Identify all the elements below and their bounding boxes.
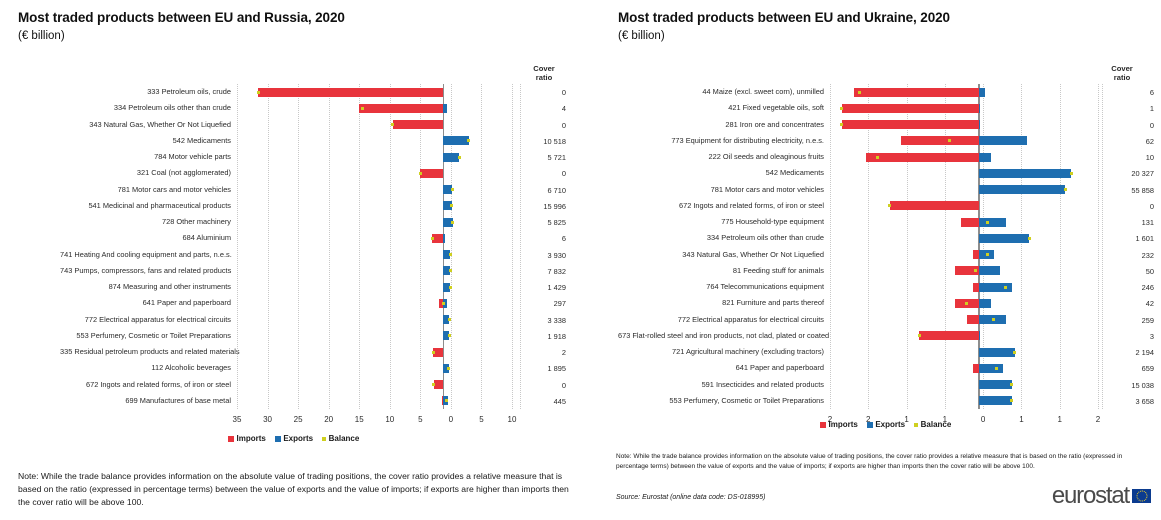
balance-marker bbox=[840, 123, 843, 126]
bar-exports bbox=[443, 104, 446, 113]
bar-exports bbox=[979, 396, 1012, 405]
cover-ratio-value: 6 bbox=[506, 234, 566, 243]
x-axis-tick: 15 bbox=[344, 415, 374, 424]
legend-label-imports: Imports bbox=[829, 420, 858, 429]
x-axis-tick: 5 bbox=[466, 415, 496, 424]
balance-marker bbox=[449, 253, 452, 256]
cover-ratio-value: 2 bbox=[506, 348, 566, 357]
legend-item-imports: Imports bbox=[820, 420, 858, 429]
category-label: 334 Petroleum oils other than crude bbox=[618, 233, 824, 242]
category-label: 775 Household-type equipment bbox=[618, 217, 824, 226]
category-label: 641 Paper and paperboard bbox=[60, 298, 231, 307]
page-title-ukraine: Most traded products between EU and Ukra… bbox=[618, 10, 950, 25]
cover-ratio-divider bbox=[520, 84, 521, 409]
category-label: 333 Petroleum oils, crude bbox=[60, 87, 231, 96]
gridline bbox=[298, 84, 300, 409]
legend-item-exports: Exports bbox=[275, 434, 313, 443]
balance-marker bbox=[888, 204, 891, 207]
cover-ratio-value: 3 930 bbox=[506, 251, 566, 260]
cover-ratio-value: 2 194 bbox=[1094, 348, 1154, 357]
balance-marker bbox=[986, 253, 989, 256]
page-title-russia: Most traded products between EU and Russ… bbox=[18, 10, 345, 25]
balance-marker bbox=[442, 302, 445, 305]
legend-swatch-exports bbox=[867, 422, 873, 428]
gridline bbox=[359, 84, 361, 409]
cover-ratio-value: 3 338 bbox=[506, 316, 566, 325]
legend-label-exports: Exports bbox=[283, 434, 313, 443]
legend-swatch-balance bbox=[914, 423, 918, 427]
cover-ratio-value: 10 bbox=[1094, 153, 1154, 162]
category-label: 421 Fixed vegetable oils, soft bbox=[618, 103, 824, 112]
x-axis-tick: 10 bbox=[497, 415, 527, 424]
x-axis-tick: 0 bbox=[968, 415, 998, 424]
x-axis-tick: 20 bbox=[314, 415, 344, 424]
bar-exports bbox=[979, 169, 1071, 178]
category-label: 541 Medicinal and pharmaceutical product… bbox=[60, 201, 231, 210]
category-label: 591 Insecticides and related products bbox=[618, 380, 824, 389]
cover-ratio-value: 55 858 bbox=[1094, 186, 1154, 195]
cover-ratio-value: 50 bbox=[1094, 267, 1154, 276]
legend-swatch-exports bbox=[275, 436, 281, 442]
gridline bbox=[1098, 84, 1100, 409]
cover-ratio-header-ukraine: Cover ratio bbox=[1100, 64, 1144, 82]
category-label: 772 Electrical apparatus for electrical … bbox=[618, 315, 824, 324]
cover-ratio-value: 10 518 bbox=[506, 137, 566, 146]
cover-ratio-value: 259 bbox=[1094, 316, 1154, 325]
x-axis-tick: 0 bbox=[436, 415, 466, 424]
balance-marker bbox=[432, 351, 435, 354]
cover-ratio-value: 131 bbox=[1094, 218, 1154, 227]
x-axis-tick: 25 bbox=[283, 415, 313, 424]
bar-imports bbox=[866, 153, 979, 162]
balance-marker bbox=[948, 139, 951, 142]
gridline bbox=[1021, 84, 1023, 409]
category-label: 81 Feeding stuff for animals bbox=[618, 266, 824, 275]
balance-marker bbox=[467, 139, 470, 142]
cover-ratio-divider bbox=[1102, 84, 1103, 409]
balance-marker bbox=[257, 91, 260, 94]
balance-marker bbox=[1010, 383, 1013, 386]
cover-ratio-value: 7 832 bbox=[506, 267, 566, 276]
balance-marker bbox=[1004, 286, 1007, 289]
legend-label-exports: Exports bbox=[875, 420, 905, 429]
x-axis-tick: 1 bbox=[1045, 415, 1075, 424]
balance-marker bbox=[391, 123, 394, 126]
balance-marker bbox=[431, 237, 434, 240]
balance-marker bbox=[449, 269, 452, 272]
balance-marker bbox=[458, 156, 461, 159]
category-label: 784 Motor vehicle parts bbox=[60, 152, 231, 161]
balance-marker bbox=[1064, 188, 1067, 191]
eurostat-logo: eurostat bbox=[1052, 482, 1151, 510]
balance-marker bbox=[986, 221, 989, 224]
cover-ratio-value: 62 bbox=[1094, 137, 1154, 146]
cover-ratio-value: 0 bbox=[1094, 202, 1154, 211]
category-label: 335 Residual petroleum products and rela… bbox=[60, 347, 231, 356]
gridline bbox=[481, 84, 483, 409]
legend-item-exports: Exports bbox=[867, 420, 905, 429]
cover-ratio-header-russia: Cover ratio bbox=[524, 64, 564, 82]
category-label: 112 Alcoholic beverages bbox=[60, 363, 231, 372]
plot-area bbox=[830, 84, 1098, 409]
bar-imports bbox=[420, 169, 443, 178]
category-label: 673 Flat-rolled steel and iron products,… bbox=[618, 331, 824, 340]
category-label: 553 Perfumery, Cosmetic or Toilet Prepar… bbox=[60, 331, 231, 340]
category-label: 781 Motor cars and motor vehicles bbox=[60, 185, 231, 194]
plot-area bbox=[237, 84, 512, 409]
category-label: 743 Pumps, compressors, fans and related… bbox=[60, 266, 231, 275]
category-label: 684 Aluminium bbox=[60, 233, 231, 242]
legend-swatch-balance bbox=[322, 437, 326, 441]
legend-swatch-imports bbox=[228, 436, 234, 442]
category-label: 44 Maize (excl. sweet corn), unmilled bbox=[618, 87, 824, 96]
balance-marker bbox=[1010, 399, 1013, 402]
bar-exports bbox=[979, 153, 991, 162]
gridline bbox=[830, 84, 832, 409]
x-axis-tick: 35 bbox=[222, 415, 252, 424]
eurostat-chart-page: Most traded products between EU and Russ… bbox=[0, 0, 1161, 520]
cover-ratio-value: 4 bbox=[506, 104, 566, 113]
bar-exports bbox=[979, 218, 1006, 227]
cover-ratio-value: 15 996 bbox=[506, 202, 566, 211]
gridline bbox=[390, 84, 392, 409]
category-label: 542 Medicaments bbox=[60, 136, 231, 145]
bar-imports bbox=[842, 104, 979, 113]
bar-exports bbox=[979, 299, 991, 308]
cover-ratio-value: 0 bbox=[506, 88, 566, 97]
cover-ratio-value: 232 bbox=[1094, 251, 1154, 260]
category-label: 741 Heating And cooling equipment and pa… bbox=[60, 250, 231, 259]
bar-exports bbox=[979, 348, 1015, 357]
cover-ratio-value: 246 bbox=[1094, 283, 1154, 292]
legend-label-balance: Balance bbox=[329, 434, 360, 443]
legend-swatch-imports bbox=[820, 422, 826, 428]
category-label: 764 Telecommunications equipment bbox=[618, 282, 824, 291]
balance-marker bbox=[918, 334, 921, 337]
eurostat-wordmark: eurostat bbox=[1052, 482, 1129, 510]
bar-exports bbox=[443, 234, 445, 243]
balance-marker bbox=[451, 221, 454, 224]
balance-marker bbox=[992, 318, 995, 321]
x-axis-tick: 2 bbox=[1083, 415, 1113, 424]
category-label: 542 Medicaments bbox=[618, 168, 824, 177]
category-label: 672 Ingots and related forms, of iron or… bbox=[60, 380, 231, 389]
bar-imports bbox=[961, 218, 979, 227]
cover-ratio-value: 15 038 bbox=[1094, 381, 1154, 390]
zero-axis-line bbox=[443, 84, 444, 409]
bar-imports bbox=[359, 104, 443, 113]
legend-russia: Imports Exports Balance bbox=[228, 434, 359, 443]
cover-ratio-value: 5 721 bbox=[506, 153, 566, 162]
balance-marker bbox=[419, 172, 422, 175]
balance-marker bbox=[974, 269, 977, 272]
balance-marker bbox=[995, 367, 998, 370]
balance-marker bbox=[449, 286, 452, 289]
gridline bbox=[451, 84, 453, 409]
legend-item-imports: Imports bbox=[228, 434, 266, 443]
chart-panel-ukraine: Most traded products between EU and Ukra… bbox=[608, 0, 1161, 520]
bar-imports bbox=[258, 88, 443, 97]
bar-imports bbox=[919, 331, 979, 340]
legend-item-balance: Balance bbox=[914, 420, 951, 429]
zero-axis-line bbox=[978, 84, 979, 409]
balance-marker bbox=[432, 383, 435, 386]
cover-ratio-value: 0 bbox=[1094, 121, 1154, 130]
cover-ratio-value: 659 bbox=[1094, 364, 1154, 373]
category-label: 334 Petroleum oils other than crude bbox=[60, 103, 231, 112]
x-axis-tick: 30 bbox=[253, 415, 283, 424]
category-label: 222 Oil seeds and oleaginous fruits bbox=[618, 152, 824, 161]
cover-ratio-value: 445 bbox=[506, 397, 566, 406]
cover-ratio-value: 1 429 bbox=[506, 283, 566, 292]
category-label: 773 Equipment for distributing electrici… bbox=[618, 136, 824, 145]
cover-ratio-value: 0 bbox=[506, 169, 566, 178]
x-axis-tick: 5 bbox=[405, 415, 435, 424]
cover-ratio-value: 297 bbox=[506, 299, 566, 308]
bar-imports bbox=[393, 120, 444, 129]
bar-exports bbox=[979, 331, 981, 340]
gridline bbox=[907, 84, 909, 409]
balance-marker bbox=[451, 188, 454, 191]
x-axis-tick: 10 bbox=[375, 415, 405, 424]
bar-imports bbox=[890, 201, 979, 210]
category-label: 343 Natural Gas, Whether Or Not Liquefie… bbox=[60, 120, 231, 129]
cover-ratio-value: 1 601 bbox=[1094, 234, 1154, 243]
gridline bbox=[1060, 84, 1062, 409]
balance-marker bbox=[361, 107, 364, 110]
balance-marker bbox=[447, 367, 450, 370]
bar-imports bbox=[967, 315, 979, 324]
category-label: 772 Electrical apparatus for electrical … bbox=[60, 315, 231, 324]
note-russia: Note: While the trade balance provides i… bbox=[18, 470, 570, 509]
cover-ratio-value: 3 658 bbox=[1094, 397, 1154, 406]
cover-ratio-value: 1 895 bbox=[506, 364, 566, 373]
cover-ratio-value: 1 918 bbox=[506, 332, 566, 341]
gridline bbox=[983, 84, 985, 409]
bar-exports bbox=[979, 185, 1065, 194]
cover-ratio-value: 6 bbox=[1094, 88, 1154, 97]
legend-ukraine: Imports Exports Balance bbox=[820, 420, 951, 429]
note-ukraine: Note: While the trade balance provides i… bbox=[616, 452, 1136, 471]
balance-marker bbox=[448, 334, 451, 337]
bar-imports bbox=[842, 120, 979, 129]
cover-ratio-value: 0 bbox=[506, 121, 566, 130]
balance-marker bbox=[965, 302, 968, 305]
subtitle-ukraine: (€ billion) bbox=[618, 30, 665, 42]
category-label: 699 Manufactures of base metal bbox=[60, 396, 231, 405]
bar-imports bbox=[854, 88, 979, 97]
cover-ratio-value: 5 825 bbox=[506, 218, 566, 227]
x-axis-tick: 1 bbox=[1006, 415, 1036, 424]
category-label: 553 Perfumery, Cosmetic or Toilet Prepar… bbox=[618, 396, 824, 405]
balance-marker bbox=[445, 399, 448, 402]
cover-ratio-value: 42 bbox=[1094, 299, 1154, 308]
bar-exports bbox=[979, 104, 981, 113]
bar-exports bbox=[979, 364, 1003, 373]
bar-exports bbox=[443, 136, 468, 145]
legend-label-balance: Balance bbox=[921, 420, 952, 429]
bar-imports bbox=[901, 136, 978, 145]
cover-ratio-value: 20 327 bbox=[1094, 169, 1154, 178]
category-label: 781 Motor cars and motor vehicles bbox=[618, 185, 824, 194]
source-ukraine: Source: Eurostat (online data code: DS-0… bbox=[616, 494, 765, 501]
cover-ratio-value: 3 bbox=[1094, 332, 1154, 341]
balance-marker bbox=[876, 156, 879, 159]
gridline bbox=[237, 84, 239, 409]
category-label: 281 Iron ore and concentrates bbox=[618, 120, 824, 129]
gridline bbox=[868, 84, 870, 409]
category-label: 874 Measuring and other instruments bbox=[60, 282, 231, 291]
balance-marker bbox=[858, 91, 861, 94]
chart-panel-russia: Most traded products between EU and Russ… bbox=[0, 0, 580, 520]
gridline bbox=[945, 84, 947, 409]
balance-marker bbox=[1070, 172, 1073, 175]
bar-exports bbox=[979, 266, 1000, 275]
bar-exports bbox=[979, 120, 981, 129]
category-label: 641 Paper and paperboard bbox=[618, 363, 824, 372]
category-label: 672 Ingots and related forms, of iron or… bbox=[618, 201, 824, 210]
bar-exports bbox=[979, 234, 1030, 243]
subtitle-russia: (€ billion) bbox=[18, 30, 65, 42]
cover-ratio-value: 0 bbox=[506, 381, 566, 390]
category-label: 821 Furniture and parts thereof bbox=[618, 298, 824, 307]
gridline bbox=[329, 84, 331, 409]
balance-marker bbox=[840, 107, 843, 110]
bar-exports bbox=[979, 88, 985, 97]
gridline bbox=[512, 84, 514, 409]
balance-marker bbox=[1028, 237, 1031, 240]
cover-ratio-value: 1 bbox=[1094, 104, 1154, 113]
bar-exports bbox=[979, 380, 1012, 389]
balance-marker bbox=[450, 204, 453, 207]
category-label: 343 Natural Gas, Whether Or Not Liquefie… bbox=[618, 250, 824, 259]
gridline bbox=[268, 84, 270, 409]
category-label: 321 Coal (not agglomerated) bbox=[60, 168, 231, 177]
cover-ratio-value: 6 710 bbox=[506, 186, 566, 195]
balance-marker bbox=[448, 318, 451, 321]
legend-label-imports: Imports bbox=[237, 434, 266, 443]
category-label: 721 Agricultural machinery (excluding tr… bbox=[618, 347, 824, 356]
legend-item-balance: Balance bbox=[322, 434, 359, 443]
balance-marker bbox=[1013, 351, 1016, 354]
bar-exports bbox=[979, 136, 1027, 145]
gridline bbox=[420, 84, 422, 409]
category-label: 728 Other machinery bbox=[60, 217, 231, 226]
eu-flag-icon bbox=[1132, 489, 1151, 503]
